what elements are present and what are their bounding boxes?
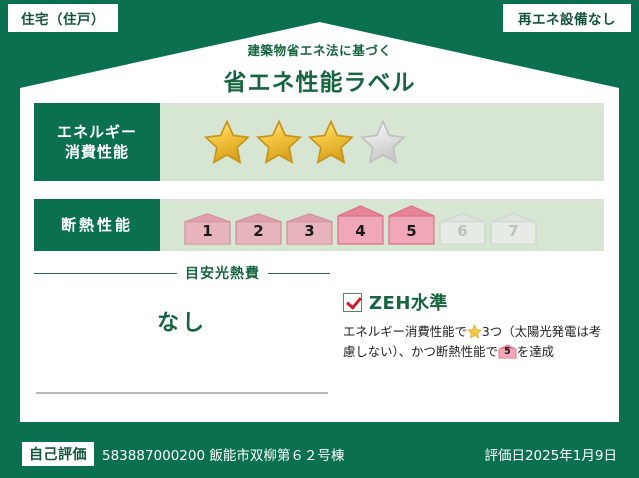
footer-content: 自己評価 583887000200 飯能市双柳第６２号棟 評価日2025年1月9… (22, 442, 617, 466)
checkmark-icon (343, 293, 362, 312)
house-badge-number: 5 (498, 344, 517, 359)
insulation-level-3: 3 (286, 213, 333, 245)
insulation-level-7: 7 (490, 213, 537, 245)
star-icon-filled (256, 119, 302, 165)
divider-right (268, 273, 330, 274)
utility-cost-header: 目安光熱費 (34, 263, 330, 283)
insulation-level-number: 5 (388, 222, 435, 240)
divider-left (34, 273, 177, 274)
star-rating (204, 119, 406, 165)
title-main: 省エネ性能ラベル (0, 63, 639, 97)
utility-cost-bottom-divider (36, 392, 328, 394)
energy-label-line2: 消費性能 (65, 142, 129, 162)
utility-cost-title: 目安光熱費 (185, 263, 260, 283)
insulation-level-5: 5 (388, 205, 435, 245)
footer-evaluation-date: 評価日2025年1月9日 (484, 444, 617, 464)
insulation-level-number: 2 (235, 222, 282, 240)
zeh-desc-part3: を達成 (517, 344, 554, 359)
insulation-level-number: 3 (286, 222, 333, 240)
energy-label-line1: エネルギー (57, 122, 137, 142)
insulation-level-4: 4 (337, 205, 384, 245)
insulation-level-number: 6 (439, 222, 486, 240)
insulation-label-text: 断熱性能 (61, 215, 133, 235)
star-icon-empty (360, 119, 406, 165)
energy-consumption-value (160, 103, 604, 181)
insulation-level-1: 1 (184, 213, 231, 245)
insulation-level-number: 1 (184, 222, 231, 240)
house-badge-icon: 5 (498, 344, 517, 359)
insulation-level-number: 4 (337, 222, 384, 240)
insulation-performance-label: 断熱性能 (34, 199, 160, 251)
star-icon-filled (308, 119, 354, 165)
page-title: 建築物省エネ法に基づく 省エネ性能ラベル (0, 40, 639, 97)
title-subtitle: 建築物省エネ法に基づく (0, 40, 639, 59)
self-evaluation-badge: 自己評価 (22, 442, 94, 466)
star-icon (467, 324, 482, 339)
utility-cost-value: なし (34, 305, 330, 337)
energy-performance-label: 住宅（住戸） 再エネ設備なし 建築物省エネ法に基づく 省エネ性能ラベル エネルギ… (0, 0, 639, 478)
insulation-level-6: 6 (439, 213, 486, 245)
insulation-level-number: 7 (490, 222, 537, 240)
zeh-standard-block: ZEH水準 エネルギー消費性能で3つ（太陽光発電は考慮しない）、かつ断熱性能で5… (343, 289, 605, 362)
insulation-scale: 1234567 (184, 205, 537, 245)
zeh-desc-part1: エネルギー消費性能で (343, 324, 467, 339)
energy-consumption-label: エネルギー 消費性能 (34, 103, 160, 181)
building-type-tag: 住宅（住戸） (8, 4, 118, 32)
zeh-description: エネルギー消費性能で3つ（太陽光発電は考慮しない）、かつ断熱性能で5を達成 (343, 322, 605, 362)
zeh-title: ZEH水準 (369, 289, 448, 315)
insulation-performance-row: 断熱性能 1234567 (34, 199, 604, 251)
insulation-level-2: 2 (235, 213, 282, 245)
star-icon-filled (204, 119, 250, 165)
footer-id-address: 583887000200 飯能市双柳第６２号棟 (102, 444, 344, 464)
insulation-performance-value: 1234567 (160, 199, 604, 251)
footer-bar: 自己評価 583887000200 飯能市双柳第６２号棟 評価日2025年1月9… (0, 430, 639, 478)
energy-consumption-row: エネルギー 消費性能 (34, 103, 604, 181)
renewable-equipment-tag: 再エネ設備なし (503, 4, 631, 32)
zeh-header: ZEH水準 (343, 289, 605, 315)
